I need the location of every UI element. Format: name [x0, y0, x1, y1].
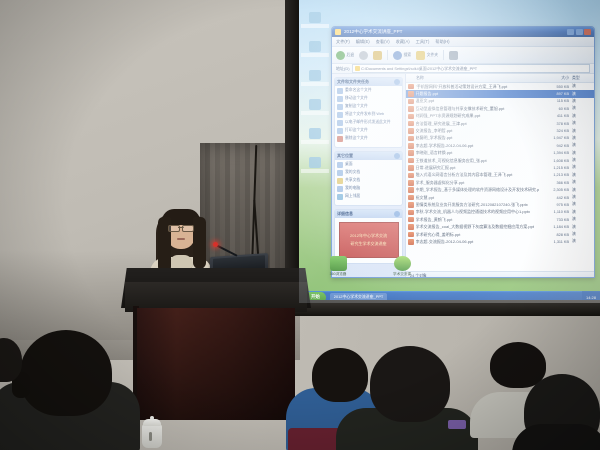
file-type: 演: [572, 165, 594, 170]
microphone-indicator: [213, 242, 218, 247]
taskbar-clock[interactable]: 14:28: [586, 295, 596, 300]
file-type: 演: [572, 158, 594, 163]
close-button[interactable]: [584, 29, 591, 35]
place-label: 桌面: [345, 162, 353, 167]
task-group-body: 桌面 我的文档 共享文档: [335, 160, 402, 205]
file-name: 刘润强_PPT水资源规划研究成果.ppt: [416, 113, 540, 119]
file-name: 赵磊明_学术报告.ppt: [416, 135, 540, 141]
file-type: 演: [572, 129, 594, 134]
desktop-icon-4[interactable]: [301, 99, 329, 123]
file-row[interactable]: 学术报告_黄鹤飞.ppt733 KB演: [406, 216, 594, 223]
file-type: 演: [572, 195, 594, 200]
task-delete[interactable]: 删除这个文件: [337, 136, 400, 142]
projection-screen: 2012中心学术交流讲座_PPT 文件(F) 编辑(E) 查看(V) 收藏(A)…: [299, 0, 600, 303]
folders-icon: [416, 51, 425, 60]
window-titlebar[interactable]: 2012中心学术交流讲座_PPT: [332, 27, 594, 37]
desktop-icon-5[interactable]: [301, 128, 329, 152]
views-icon: [449, 51, 458, 60]
powerpoint-file-icon: [408, 128, 414, 134]
file-type: 演: [572, 106, 594, 111]
powerpoint-file-icon: [408, 180, 414, 186]
powerpoint-file-icon: [408, 84, 414, 90]
file-size: 378 KB: [539, 122, 572, 126]
file-size: 115 KB: [539, 99, 572, 103]
desktop-icons-bottom: 360浏览器 学术交流课: [317, 256, 423, 276]
file-row[interactable]: 融入式语义网语言分析方法及其内容本管理_王泽飞.ppt1,213 KB演: [406, 172, 594, 179]
file-type: 演: [572, 188, 594, 193]
task-group-body: 重命名这个文件 移动这个文件 复制这个文件: [335, 86, 402, 147]
audience-right-1-torso: [512, 424, 600, 450]
task-label: 重命名这个文件: [345, 88, 372, 93]
file-size: 1,184 KB: [539, 225, 572, 229]
place-label: 网上邻居: [345, 194, 360, 199]
desktop-icon-2[interactable]: [301, 41, 329, 65]
up-arrow-icon: [373, 51, 382, 60]
powerpoint-file-icon: [408, 187, 414, 193]
purple-object: [448, 420, 466, 429]
desktop-icon-label: 360浏览器: [317, 272, 359, 276]
task-group-header[interactable]: 文件和文件夹任务: [335, 78, 402, 86]
file-size: 550 KB: [539, 85, 572, 89]
task-group-files: 文件和文件夹任务 重命名这个文件 移动这个文件: [334, 77, 403, 148]
column-header-size[interactable]: 大小: [539, 75, 572, 81]
folder-icon: [335, 29, 341, 35]
file-name: "手机智网科"开放科普活动策划设计方案_王泽飞.ppt: [416, 84, 540, 90]
menu-item-favorites[interactable]: 收藏(A): [396, 39, 410, 45]
file-row[interactable]: "手机智网科"开放科普活动策划设计方案_王泽飞.ppt550 KB演: [406, 83, 594, 90]
forward-button[interactable]: [359, 51, 368, 60]
powerpoint-file-icon: [408, 158, 414, 164]
file-row[interactable]: 李志超-学术报告-2012-04-06.ppt942 KB演: [406, 142, 594, 149]
search-button[interactable]: 搜索: [393, 51, 411, 60]
file-row[interactable]: 温亚文.ppt115 KB演: [406, 98, 594, 105]
file-name: 李晓刚_语言转换.ppt: [416, 150, 540, 156]
rename-icon: [337, 88, 343, 94]
teacup-lid: [143, 419, 161, 426]
file-size: 975 KB: [539, 203, 572, 207]
file-size: 1,394 KB: [539, 151, 572, 155]
computer-icon: [337, 186, 343, 192]
task-label: 移动这个文件: [345, 96, 368, 101]
place-shared-documents[interactable]: 共享文档: [337, 178, 400, 184]
file-row[interactable]: 学术_服务器虚拟化分享.ppt366 KB演: [406, 179, 594, 186]
file-type: 演: [572, 217, 594, 222]
desktop-icon-1[interactable]: [301, 12, 329, 36]
file-name: 温亚文.ppt: [416, 98, 540, 104]
chevron-up-icon[interactable]: [394, 211, 400, 217]
task-label: 删除这个文件: [345, 136, 368, 141]
file-row[interactable]: 学术研究心得_姜明标.ppt828 KB演: [406, 231, 594, 238]
desktop-icon-3[interactable]: [301, 70, 329, 94]
documents-icon: [337, 170, 343, 176]
task-publish[interactable]: 将这个文件发布到 Web: [337, 112, 400, 118]
forward-arrow-icon: [359, 51, 368, 60]
back-arrow-icon: [336, 51, 345, 60]
search-button-label: 搜索: [404, 53, 412, 58]
teacup-knob: [150, 416, 154, 420]
search-icon: [393, 51, 402, 60]
place-label: 共享文档: [345, 178, 360, 183]
desktop-icon: [337, 162, 343, 168]
file-row[interactable]: 合法管理_研究进展_王津.ppt378 KB演: [406, 120, 594, 127]
powerpoint-file-icon: [408, 114, 414, 120]
file-name: 日常-进展研究汇报.ppt: [416, 165, 540, 171]
file-type: 演: [572, 173, 594, 178]
presentation-room-photo: 2012中心学术交流讲座_PPT 文件(F) 编辑(E) 查看(V) 收藏(A)…: [0, 0, 600, 450]
powerpoint-file-icon: [408, 210, 414, 216]
file-row[interactable]: 刘润强_PPT水资源规划研究成果.ppt411 KB演: [406, 113, 594, 120]
explorer-window[interactable]: 2012中心学术交流讲座_PPT 文件(F) 编辑(E) 查看(V) 收藏(A)…: [331, 26, 595, 278]
file-size: 1,947 KB: [539, 136, 572, 140]
powerpoint-file-icon: [408, 91, 414, 97]
file-row[interactable]: 学术交流报告_coal_大数据视野下灰度算法及数据挖掘应用方案.ppt1,184…: [406, 223, 594, 230]
menu-item-view[interactable]: 查看(V): [376, 39, 390, 45]
menu-item-tools[interactable]: 工具(T): [416, 39, 430, 45]
file-row[interactable]: 李志超-交流报告-2012-04-06.ppt1,311 KB演: [406, 238, 594, 245]
desktop-icon-browser[interactable]: 360浏览器: [317, 256, 359, 276]
powerpoint-file-icon: [408, 136, 414, 142]
file-row[interactable]: 开题报告.ppt897 KB演: [406, 90, 594, 97]
email-icon: [337, 120, 343, 126]
teacup: [142, 418, 162, 448]
maximize-button[interactable]: [576, 29, 583, 35]
back-button-label: 后退: [347, 53, 355, 58]
file-row[interactable]: 图情类系统及业务开发服务方法研究-2012082107240-张飞.pptx97…: [406, 201, 594, 208]
file-type: 演: [572, 121, 594, 126]
network-icon: [337, 194, 343, 200]
address-label: 地址(D): [336, 66, 350, 72]
file-row[interactable]: 李晓刚_语言转换.ppt1,394 KB演: [406, 150, 594, 157]
file-size: 897 KB: [539, 92, 572, 96]
file-name: 合法管理_研究进展_王津.ppt: [416, 121, 540, 127]
file-name: 学术研究心得_姜明标.ppt: [416, 232, 540, 238]
file-type: 演: [572, 151, 594, 156]
powerpoint-file-icon: [408, 121, 414, 127]
file-row[interactable]: 祝文慧.ppt442 KB演: [406, 194, 594, 201]
powerpoint-file-icon: [408, 239, 414, 245]
file-type: 演: [572, 84, 594, 89]
menu-item-help[interactable]: 帮助(H): [435, 39, 449, 45]
file-name: 开题报告.ppt: [416, 91, 540, 97]
file-preview-thumbnail: 2012年中心学术交流 研究生学术交流讲座: [339, 222, 399, 258]
file-name: 融入式语义网语言分析方法及其内容本管理_王泽飞.ppt: [416, 172, 540, 178]
shared-icon: [337, 178, 343, 184]
desktop-icon-folder[interactable]: 学术交流课: [381, 256, 423, 276]
publish-icon: [337, 112, 343, 118]
file-row[interactable]: 日常-进展研究汇报.ppt1,215 KB演: [406, 164, 594, 171]
task-rename[interactable]: 重命名这个文件: [337, 88, 400, 94]
back-button[interactable]: 后退: [336, 51, 354, 60]
task-group-header[interactable]: 其它位置: [335, 152, 402, 160]
place-label: 我的电脑: [345, 186, 360, 191]
window-title: 2012中心学术交流讲座_PPT: [344, 29, 564, 35]
file-name: 图情类系统及业务开发服务方法研究-2012082107240-张飞.pptx: [416, 202, 540, 208]
folder-shortcut-icon: [394, 256, 411, 271]
menu-item-file[interactable]: 文件(F): [336, 39, 350, 45]
file-row[interactable]: 中期_学术报告_基于多媒体处理的软件资源网络设计及开发技术研究.ppt2,305…: [406, 186, 594, 193]
file-type: 演: [572, 99, 594, 104]
file-type: 演: [572, 232, 594, 237]
task-copy[interactable]: 复制这个文件: [337, 104, 400, 110]
window-body: 文件和文件夹任务 重命名这个文件 移动这个文件: [332, 74, 594, 278]
file-type: 演: [572, 143, 594, 148]
glasses-icon: [168, 225, 194, 230]
file-row[interactable]: 王铁道技术_可视化信息服务应用_张.ppt1,608 KB演: [406, 157, 594, 164]
file-name: 王铁道技术_可视化信息服务应用_张.ppt: [416, 158, 540, 164]
task-group-title: 详细信息: [337, 211, 353, 217]
file-size: 2,305 KB: [539, 188, 572, 192]
toolbar-separator: [387, 50, 388, 60]
place-label: 我的文档: [345, 170, 360, 175]
powerpoint-file-icon: [408, 202, 414, 208]
teacup-logo: [149, 432, 152, 441]
file-name: 学术报告_黄鹤飞.ppt: [416, 217, 540, 223]
folder-icon: [355, 66, 360, 71]
task-print[interactable]: 打印这个文件: [337, 128, 400, 134]
file-type: 演: [572, 180, 594, 185]
place-desktop[interactable]: 桌面: [337, 162, 400, 168]
screen-frame-bottom: [285, 300, 600, 316]
task-group-title: 其它位置: [337, 153, 353, 159]
file-size: 1,311 KB: [539, 240, 572, 244]
folders-button[interactable]: 文件夹: [416, 51, 438, 60]
task-group-other-places: 其它位置 桌面 我的文档: [334, 151, 403, 206]
task-label: 将这个文件发布到 Web: [345, 112, 384, 117]
xp-desktop-wallpaper: 2012中心学术交流讲座_PPT 文件(F) 编辑(E) 查看(V) 收藏(A)…: [299, 0, 600, 303]
address-value: C:\Documents and Settings\huilu\桌面\2012中…: [361, 66, 477, 72]
powerpoint-file-icon: [408, 217, 414, 223]
file-size: 1,213 KB: [539, 173, 572, 177]
file-type: 演: [572, 136, 594, 141]
task-pane[interactable]: 文件和文件夹任务 重命名这个文件 移动这个文件: [332, 74, 406, 278]
file-list[interactable]: 名称 大小 类型 "手机智网科"开放科普活动策划设计方案_王泽飞.ppt550 …: [406, 74, 594, 278]
presenter-mouth: [177, 238, 185, 240]
column-header-name[interactable]: 名称: [406, 75, 539, 81]
chevron-up-icon[interactable]: [394, 153, 400, 159]
audience-center-head: [370, 346, 450, 422]
thumbnail-line-1: 2012年中心学术交流: [350, 233, 387, 239]
file-rows[interactable]: "手机智网科"开放科普活动策划设计方案_王泽飞.ppt550 KB演开题报告.p…: [406, 83, 594, 271]
browser-icon: [330, 256, 347, 271]
powerpoint-file-icon: [408, 150, 414, 156]
file-name: 李志超-交流报告-2012-04-06.ppt: [416, 239, 540, 245]
up-button[interactable]: [373, 51, 382, 60]
chevron-up-icon[interactable]: [394, 79, 400, 85]
file-type: 演: [572, 202, 594, 207]
file-name: 中期_学术报告_基于多媒体处理的软件资源网络设计及开发技术研究.ppt: [416, 187, 540, 193]
task-group-header[interactable]: 详细信息: [335, 210, 402, 218]
hair-right: [193, 217, 206, 269]
address-bar[interactable]: 地址(D) C:\Documents and Settings\huilu\桌面…: [332, 64, 594, 74]
thumbnail-line-2: 研究生学术交流讲座: [351, 241, 387, 247]
audience-front-left-head: [20, 330, 112, 416]
file-size: 324 KB: [539, 129, 572, 133]
file-name: 互动型虚拟信息管理与共享支撑技术研究_董旭.ppt: [416, 106, 540, 112]
powerpoint-file-icon: [408, 224, 414, 230]
powerpoint-file-icon: [408, 143, 414, 149]
file-type: 演: [572, 210, 594, 215]
file-name: 李秋-学术交流_机器人与视频监控通道技术的视频应用中心1.pptx: [416, 209, 540, 215]
column-headers[interactable]: 名称 大小 类型: [406, 74, 594, 83]
file-size: 366 KB: [539, 181, 572, 185]
file-size: 411 KB: [539, 114, 572, 118]
place-my-documents[interactable]: 我的文档: [337, 170, 400, 176]
address-input[interactable]: C:\Documents and Settings\huilu\桌面\2012中…: [352, 64, 590, 73]
file-type: 演: [572, 92, 594, 97]
desktop-icon-label: 学术交流课: [381, 272, 423, 276]
minimize-button[interactable]: [567, 29, 574, 35]
audience-blue-shirt-head: [312, 348, 368, 402]
task-group-title: 文件和文件夹任务: [337, 79, 369, 85]
file-size: 1,215 KB: [539, 166, 572, 170]
status-bar: 24 个对象: [406, 271, 594, 278]
file-size: 733 KB: [539, 218, 572, 222]
desktop-icon-column: [301, 12, 331, 186]
file-size: 1,608 KB: [539, 159, 572, 163]
views-button[interactable]: [449, 51, 458, 60]
file-row[interactable]: 交流报告_李明哲.ppt324 KB演: [406, 127, 594, 134]
desktop-icon-6[interactable]: [301, 157, 329, 181]
task-label: 打印这个文件: [345, 128, 368, 133]
file-type: 演: [572, 239, 594, 244]
file-row[interactable]: 互动型虚拟信息管理与共享支撑技术研究_董旭.ppt60 KB演: [406, 105, 594, 112]
column-header-type[interactable]: 类型: [572, 75, 594, 81]
file-name: 李志超-学术报告-2012-04-06.ppt: [416, 143, 540, 149]
file-size: 942 KB: [539, 144, 572, 148]
folders-button-label: 文件夹: [427, 53, 438, 58]
file-size: 828 KB: [539, 233, 572, 237]
audience-foreground: [0, 320, 600, 450]
file-size: 442 KB: [539, 196, 572, 200]
delete-icon: [337, 136, 343, 142]
file-name: 祝文慧.ppt: [416, 195, 540, 201]
copy-icon: [337, 104, 343, 110]
toolbar-separator-2: [443, 50, 444, 60]
task-email[interactable]: 以电子邮件形式发送此文件: [337, 120, 400, 126]
task-move[interactable]: 移动这个文件: [337, 96, 400, 102]
place-my-computer[interactable]: 我的电脑: [337, 186, 400, 192]
powerpoint-file-icon: [408, 165, 414, 171]
file-size: 60 KB: [539, 107, 572, 111]
screen-frame-left: [285, 0, 299, 312]
task-label: 复制这个文件: [345, 104, 368, 109]
file-name: 交流报告_李明哲.ppt: [416, 128, 540, 134]
file-row[interactable]: 李秋-学术交流_机器人与视频监控通道技术的视频应用中心1.pptx1,110 K…: [406, 209, 594, 216]
task-label: 以电子邮件形式发送此文件: [345, 120, 391, 125]
file-size: 1,110 KB: [539, 210, 572, 214]
powerpoint-file-icon: [408, 195, 414, 201]
file-type: 演: [572, 225, 594, 230]
file-type: 演: [572, 114, 594, 119]
place-network[interactable]: 网上邻居: [337, 194, 400, 200]
window-controls[interactable]: [567, 29, 591, 35]
print-icon: [337, 128, 343, 134]
file-row[interactable]: 赵磊明_学术报告.ppt1,947 KB演: [406, 135, 594, 142]
powerpoint-file-icon: [408, 173, 414, 179]
teacup-body: [142, 424, 162, 448]
powerpoint-file-icon: [408, 232, 414, 238]
file-name: 学术_服务器虚拟化分享.ppt: [416, 180, 540, 186]
powerpoint-file-icon: [408, 106, 414, 112]
move-icon: [337, 96, 343, 102]
menu-bar[interactable]: 文件(F) 编辑(E) 查看(V) 收藏(A) 工具(T) 帮助(H): [332, 37, 594, 47]
powerpoint-file-icon: [408, 99, 414, 105]
toolbar[interactable]: 后退 搜索 文件夹: [332, 47, 594, 64]
file-name: 学术交流报告_coal_大数据视野下灰度算法及数据挖掘应用方案.ppt: [416, 224, 540, 230]
menu-item-edit[interactable]: 编辑(E): [356, 39, 370, 45]
